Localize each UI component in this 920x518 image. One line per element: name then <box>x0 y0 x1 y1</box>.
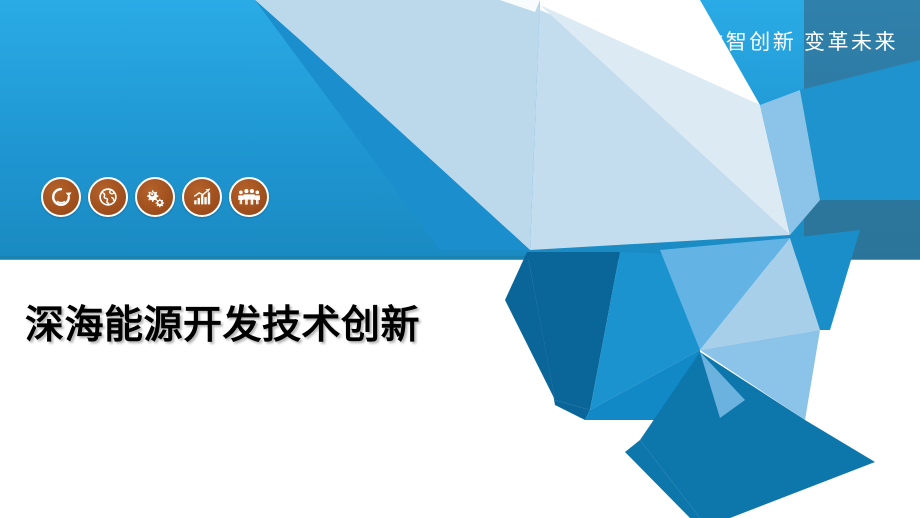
icon-badge-chart[interactable] <box>182 177 222 217</box>
icon-badge-globe[interactable] <box>88 177 128 217</box>
bar-chart-icon <box>191 186 213 208</box>
icon-badge-people[interactable] <box>229 177 269 217</box>
slide-background-artwork <box>0 0 920 518</box>
icon-badge-gears[interactable] <box>135 177 175 217</box>
icon-strip <box>41 177 269 217</box>
page-title: 深海能源开发技术创新 <box>25 294 420 350</box>
people-group-icon <box>237 186 261 208</box>
globe-icon <box>97 186 119 208</box>
icon-badge-recycle[interactable] <box>41 177 81 217</box>
gears-icon <box>144 186 167 209</box>
slide-tagline: 数智创新 变革未来 <box>702 26 898 56</box>
recycle-arrow-icon <box>50 186 72 208</box>
presentation-slide: 数智创新 变革未来 <box>0 0 920 518</box>
